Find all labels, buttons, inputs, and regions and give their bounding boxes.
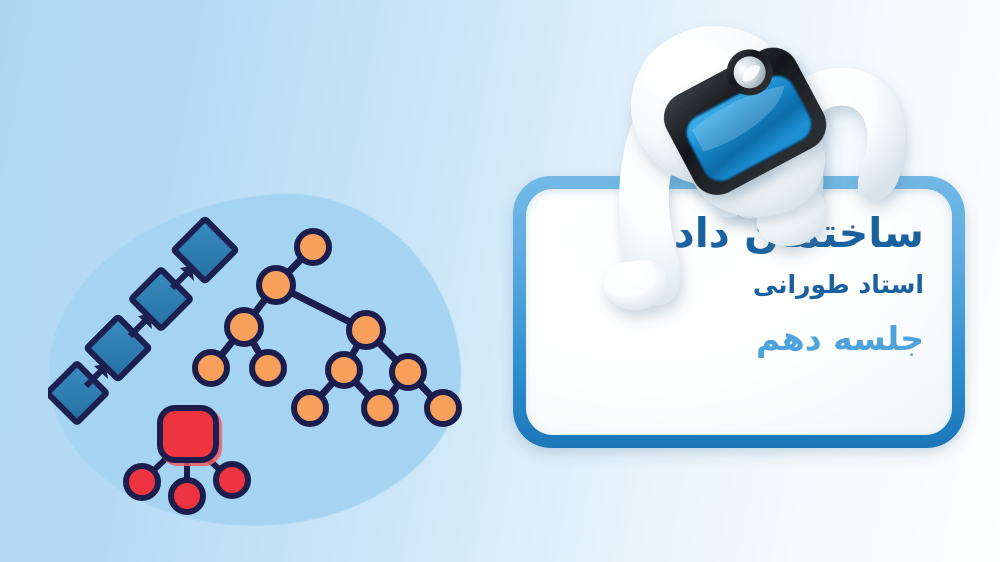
binary-tree-nodes bbox=[195, 231, 459, 424]
data-structures-illustration bbox=[48, 190, 468, 530]
cluster-child-node bbox=[126, 466, 158, 498]
linked-list-node bbox=[174, 219, 236, 281]
slide-canvas: ساختمان داده استاد طورانی جلسه دهم bbox=[0, 0, 1000, 562]
cluster-child-node bbox=[171, 480, 203, 512]
cluster-root-node bbox=[160, 408, 216, 460]
linked-list-group bbox=[48, 219, 236, 423]
mascot-character bbox=[575, 10, 975, 340]
red-graph-cluster bbox=[126, 408, 248, 512]
cluster-child-node bbox=[216, 464, 248, 496]
